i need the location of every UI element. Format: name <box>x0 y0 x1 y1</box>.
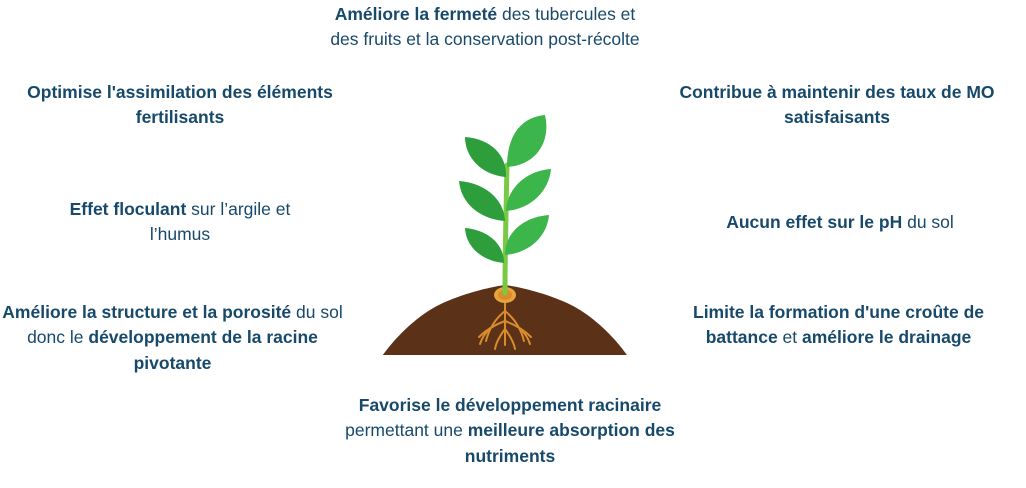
callout-right-3: Limite la formation d'une croûte de batt… <box>676 300 1001 351</box>
callout-bottom-regular: permettant une <box>345 420 468 440</box>
callout-right-3-bold-2: améliore le drainage <box>802 327 971 347</box>
callout-right-1: Contribue à maintenir des taux de MO sat… <box>672 80 1002 131</box>
callout-right-2-bold: Aucun effet sur le pH <box>726 212 902 232</box>
callout-left-3: Améliore la structure et la porosité du … <box>0 300 345 376</box>
callout-bottom-bold-1: Favorise le développement racinaire <box>359 395 662 415</box>
callout-top: Améliore la fermeté des tubercules et de… <box>330 2 640 53</box>
callout-left-1: Optimise l'assimilation des éléments fer… <box>20 80 340 131</box>
callout-right-2: Aucun effet sur le pH du sol <box>680 210 1000 235</box>
callout-left-1-bold: Optimise l'assimilation des éléments fer… <box>27 82 333 127</box>
leaf-top-right-icon <box>507 115 546 167</box>
callout-left-3-bold-1: Améliore la structure et la porosité <box>2 302 291 322</box>
callout-left-2: Effet floculant sur l’argile et l’humus <box>60 197 300 248</box>
callout-bottom-bold-2: meilleure absorption des nutriments <box>465 420 675 465</box>
callout-right-1-bold: Contribue à maintenir des taux de MO sat… <box>679 82 994 127</box>
callout-bottom: Favorise le développement racinaire perm… <box>330 393 690 469</box>
callout-top-bold: Améliore la fermeté <box>335 4 497 24</box>
callout-left-3-bold-2: développement de la racine pivotante <box>88 327 318 372</box>
callout-left-2-bold: Effet floculant <box>70 199 187 219</box>
plant-in-soil-icon <box>355 115 655 370</box>
leaf-lower-left-icon <box>465 228 504 263</box>
stem-icon <box>505 165 507 293</box>
diagram-canvas: Améliore la fermeté des tubercules et de… <box>0 0 1026 488</box>
leaf-upper-left-icon <box>465 137 506 177</box>
leaf-mid-left-icon <box>459 181 505 221</box>
callout-right-2-regular: du sol <box>902 212 954 232</box>
leaf-mid-right-icon <box>506 169 551 211</box>
leaf-lower-right-icon <box>505 215 549 255</box>
callout-right-3-regular: et <box>778 327 802 347</box>
